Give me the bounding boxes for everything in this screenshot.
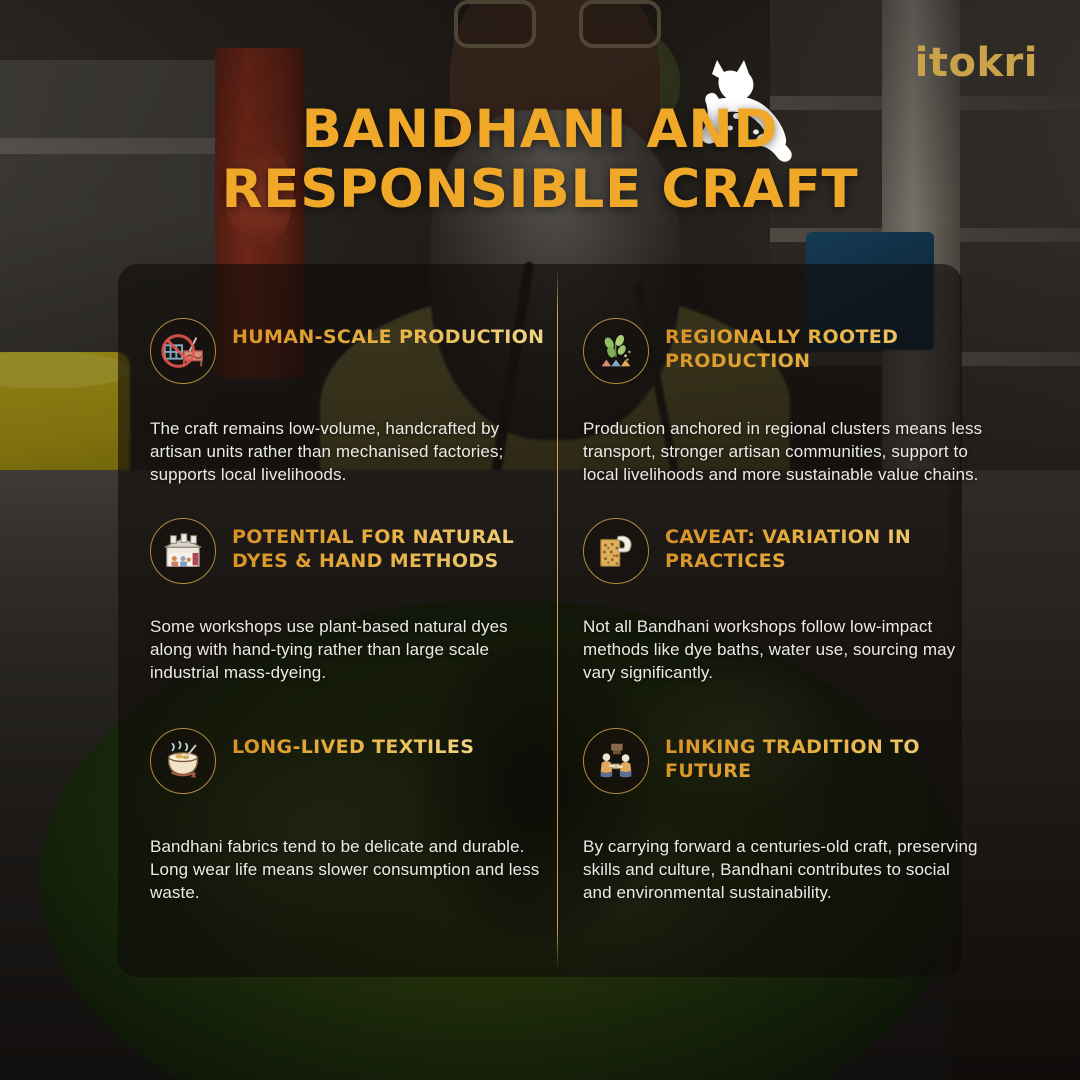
card-long-lived-textiles: LONG-LIVED TEXTILES Bandhani fabrics ten…	[150, 728, 550, 904]
card-title: LONG-LIVED TEXTILES	[232, 736, 474, 760]
card-regionally-rooted-production: REGIONALLY ROOTED PRODUCTION Production …	[583, 318, 983, 486]
brand-logo-text: itokri	[915, 40, 1038, 86]
card-human-scale-production: HUMAN-SCALE PRODUCTION The craft remains…	[150, 318, 550, 486]
two-artisans-icon	[583, 728, 649, 794]
card-linking-tradition-to-future: LINKING TRADITION TO FUTURE By carrying …	[583, 728, 983, 904]
page-title-line-1: BANDHANI AND	[302, 99, 779, 160]
card-body: Bandhani fabrics tend to be delicate and…	[150, 836, 550, 904]
seedling-plants-icon	[583, 318, 649, 384]
page-title-line-2: RESPONSIBLE CRAFT	[222, 159, 859, 220]
column-divider	[557, 268, 558, 970]
steaming-dye-pot-icon	[150, 728, 216, 794]
card-caveat-variation-in-practices: CAVEAT: VARIATION IN PRACTICES Not all B…	[583, 518, 983, 684]
card-title: LINKING TRADITION TO FUTURE	[665, 736, 983, 783]
workshop-building-icon	[150, 518, 216, 584]
page-title: BANDHANI AND RESPONSIBLE CRAFT	[0, 100, 1080, 220]
card-natural-dyes-hand-methods: POTENTIAL FOR NATURAL DYES & HAND METHOD…	[150, 518, 550, 684]
no-factory-icon	[150, 318, 216, 384]
card-title: HUMAN-SCALE PRODUCTION	[232, 326, 544, 350]
card-title: POTENTIAL FOR NATURAL DYES & HAND METHOD…	[232, 526, 550, 573]
brand-logo[interactable]: itokri	[915, 40, 1038, 86]
card-body: By carrying forward a centuries-old craf…	[583, 836, 983, 904]
card-body: Some workshops use plant-based natural d…	[150, 616, 550, 684]
card-body: Not all Bandhani workshops follow low-im…	[583, 616, 983, 684]
card-body: The craft remains low-volume, handcrafte…	[150, 418, 550, 486]
card-body: Production anchored in regional clusters…	[583, 418, 983, 486]
card-title: REGIONALLY ROOTED PRODUCTION	[665, 326, 983, 373]
card-title: CAVEAT: VARIATION IN PRACTICES	[665, 526, 983, 573]
hand-holding-fabric-icon	[583, 518, 649, 584]
